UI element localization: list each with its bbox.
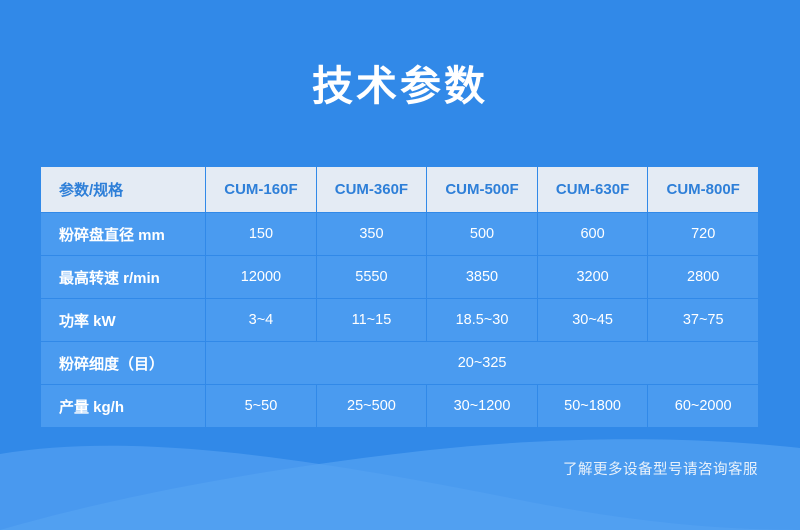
- cell-power-cum500f: 18.5~30: [427, 299, 537, 341]
- cell-power-cum360f: 11~15: [317, 299, 427, 341]
- table-row: 产量 kg/h 5~50 25~500 30~1200 50~1800 60~2…: [41, 385, 758, 427]
- column-header-cum160f: CUM-160F: [206, 167, 315, 212]
- cell-output-cum630f: 50~1800: [538, 385, 648, 427]
- page-title: 技术参数: [0, 62, 800, 111]
- column-header-cum500f: CUM-500F: [427, 167, 537, 212]
- cell-max-speed-cum800f: 2800: [648, 256, 758, 298]
- table-row: 最高转速 r/min 12000 5550 3850 3200 2800: [41, 256, 758, 298]
- column-header-cum800f: CUM-800F: [648, 167, 758, 212]
- table-header-row: 参数/规格 CUM-160F CUM-360F CUM-500F CUM-630…: [41, 167, 758, 212]
- row-label-max-speed: 最高转速 r/min: [41, 256, 205, 298]
- cell-disc-diameter-cum800f: 720: [648, 213, 758, 255]
- cell-disc-diameter-cum360f: 350: [317, 213, 427, 255]
- cell-output-cum800f: 60~2000: [648, 385, 758, 427]
- cell-output-cum160f: 5~50: [206, 385, 315, 427]
- cell-disc-diameter-cum500f: 500: [427, 213, 537, 255]
- column-header-parameter: 参数/规格: [41, 167, 205, 212]
- row-label-fineness: 粉碎细度（目）: [41, 342, 205, 384]
- column-header-cum360f: CUM-360F: [317, 167, 427, 212]
- row-label-power: 功率 kW: [41, 299, 205, 341]
- cell-max-speed-cum360f: 5550: [317, 256, 427, 298]
- row-label-output: 产量 kg/h: [41, 385, 205, 427]
- table-row: 粉碎细度（目） 20~325: [41, 342, 758, 384]
- cell-output-cum360f: 25~500: [317, 385, 427, 427]
- table-body: 粉碎盘直径 mm 150 350 500 600 720 最高转速 r/min …: [41, 213, 758, 427]
- column-header-cum630f: CUM-630F: [538, 167, 648, 212]
- cell-power-cum630f: 30~45: [538, 299, 648, 341]
- row-label-disc-diameter: 粉碎盘直径 mm: [41, 213, 205, 255]
- wave-arc-right-icon: [0, 439, 800, 530]
- cell-disc-diameter-cum630f: 600: [538, 213, 648, 255]
- cell-power-cum160f: 3~4: [206, 299, 315, 341]
- cell-max-speed-cum500f: 3850: [427, 256, 537, 298]
- footer-note: 了解更多设备型号请咨询客服: [563, 458, 758, 479]
- cell-disc-diameter-cum160f: 150: [206, 213, 315, 255]
- cell-power-cum800f: 37~75: [648, 299, 758, 341]
- cell-max-speed-cum160f: 12000: [206, 256, 315, 298]
- cell-max-speed-cum630f: 3200: [538, 256, 648, 298]
- cell-output-cum500f: 30~1200: [427, 385, 537, 427]
- cell-fineness-all-models: 20~325: [206, 342, 758, 384]
- technical-parameters-table: 参数/规格 CUM-160F CUM-360F CUM-500F CUM-630…: [40, 166, 759, 428]
- table-row: 粉碎盘直径 mm 150 350 500 600 720: [41, 213, 758, 255]
- table-row: 功率 kW 3~4 11~15 18.5~30 30~45 37~75: [41, 299, 758, 341]
- table-header: 参数/规格 CUM-160F CUM-360F CUM-500F CUM-630…: [41, 167, 758, 212]
